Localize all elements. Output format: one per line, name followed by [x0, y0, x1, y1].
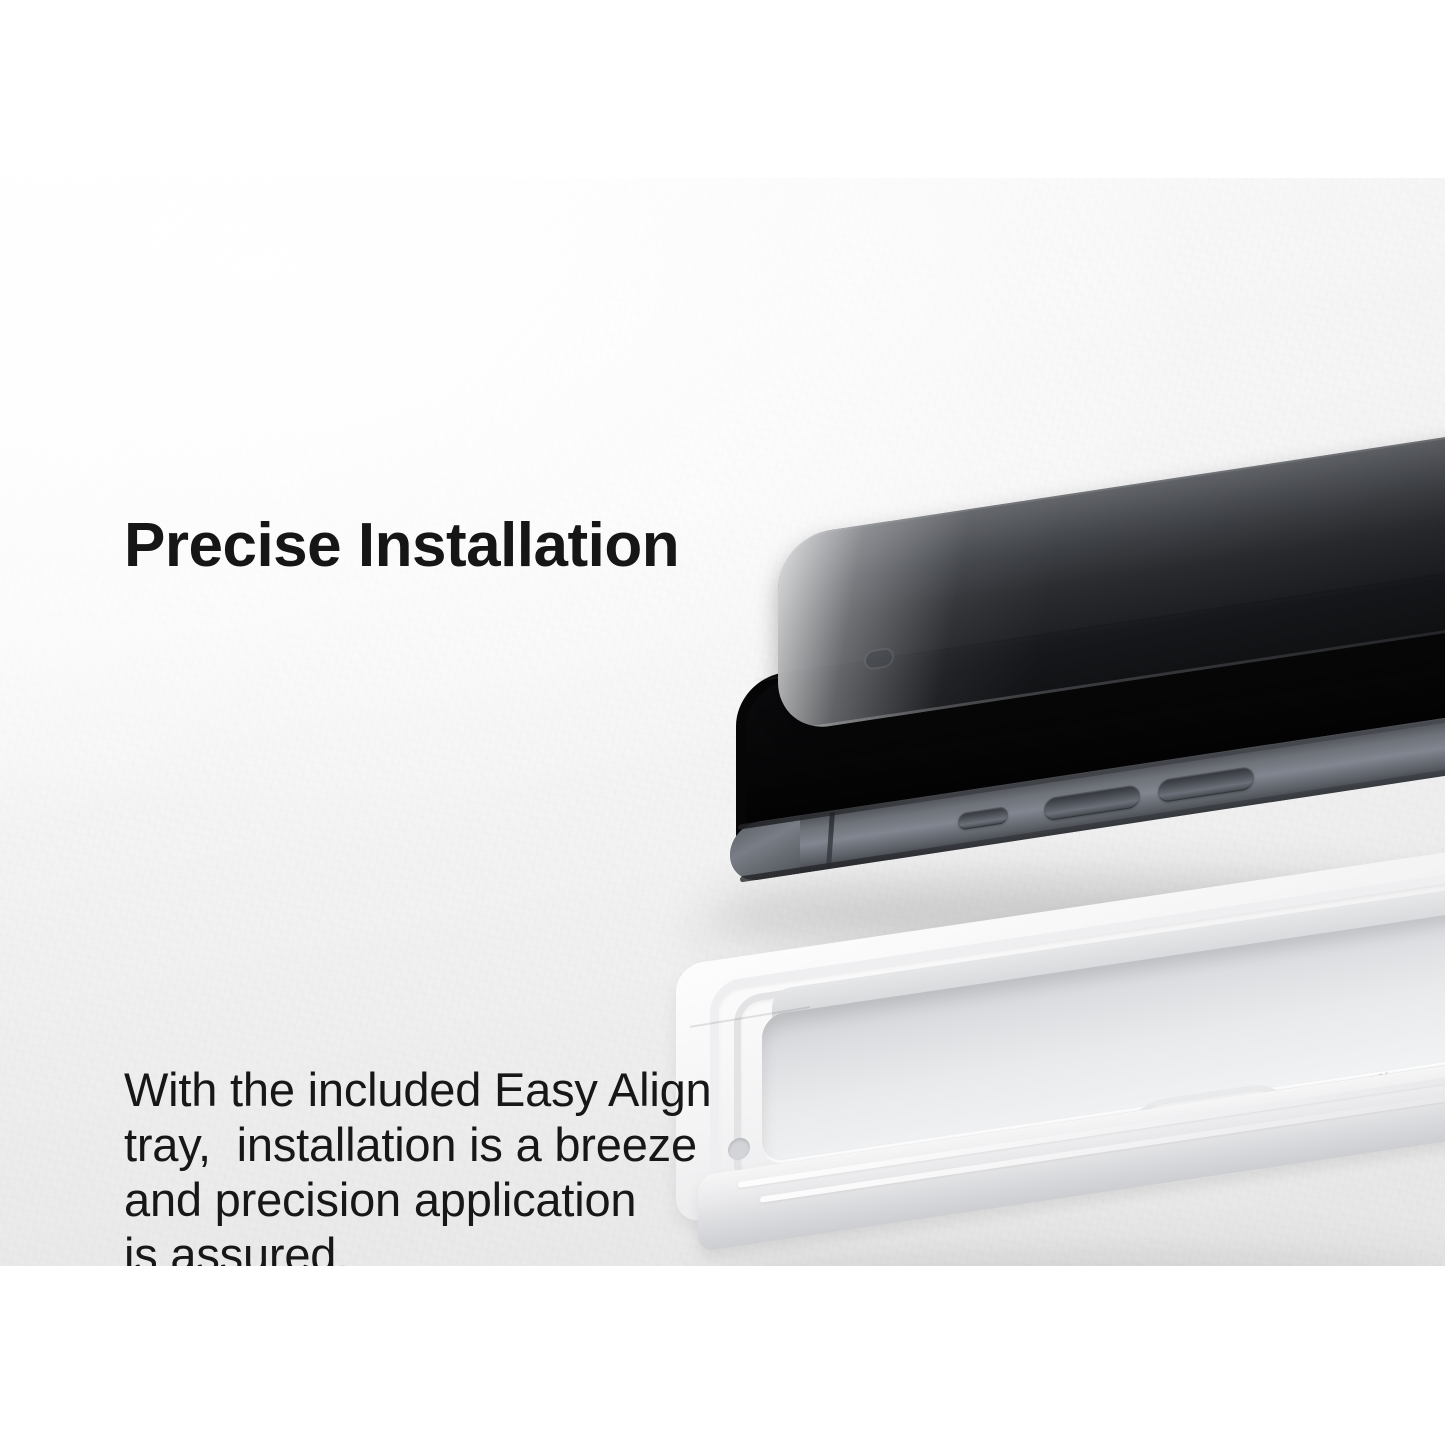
phone-antenna-line: [826, 812, 835, 867]
letterbox-bottom: [0, 1266, 1445, 1445]
product-marketing-slide: 100% Precise Installation With the inclu…: [0, 0, 1445, 1445]
easy-align-tray: 100%: [676, 960, 1445, 1266]
volume-up-button[interactable]: [1044, 784, 1140, 822]
phone-with-screen-protector: [700, 530, 1445, 930]
body-copy: With the included Easy Align tray, insta…: [124, 1062, 734, 1266]
photo-background: 100% Precise Installation With the inclu…: [0, 178, 1445, 1266]
background-light-sheen: [0, 178, 740, 818]
volume-down-button[interactable]: [1158, 766, 1254, 804]
letterbox-top: [0, 0, 1445, 178]
page-title: Precise Installation: [124, 514, 679, 577]
mute-switch[interactable]: [958, 806, 1008, 831]
